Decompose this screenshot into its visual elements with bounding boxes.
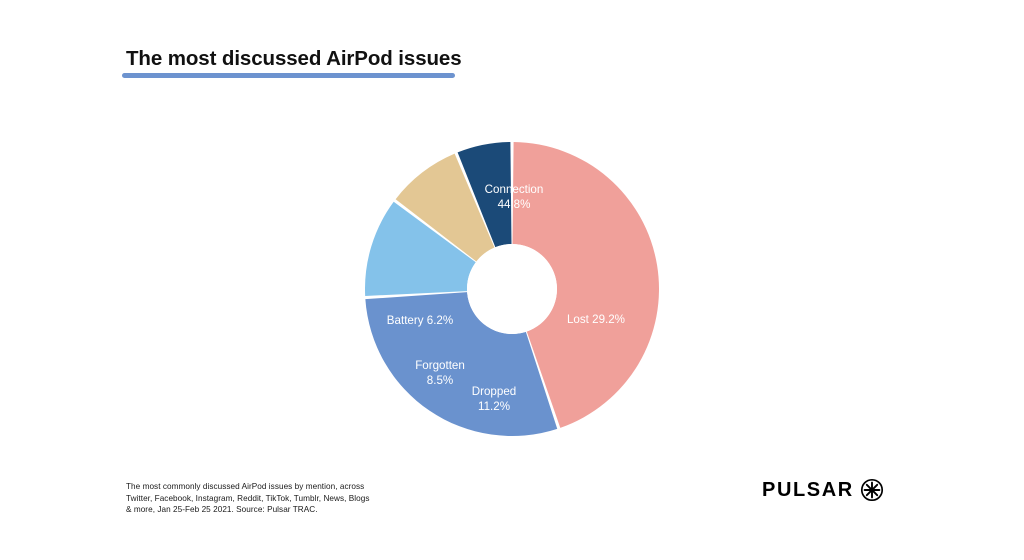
footer-line-3: & more, Jan 25-Feb 25 2021. Source: Puls… [126, 504, 426, 516]
pulsar-logo: PULSAR [762, 478, 884, 502]
pulsar-starburst-icon [860, 478, 884, 502]
pulsar-wordmark: PULSAR [762, 479, 854, 502]
title-underline-rule [122, 73, 455, 78]
slice-label-connection: Connection [485, 183, 544, 196]
title-block: The most discussed AirPod issues [126, 46, 546, 78]
page-title: The most discussed AirPod issues [126, 46, 546, 72]
donut-center-hole [467, 244, 557, 334]
slice-label-forgotten: 8.5% [427, 374, 453, 387]
slide-canvas: The most discussed AirPod issues Connect… [0, 0, 1024, 560]
slice-label-lost: Lost 29.2% [567, 313, 625, 326]
slice-label-dropped: Dropped [472, 385, 516, 398]
donut-chart: Connection44.8%Lost 29.2%Dropped11.2%For… [365, 142, 659, 436]
slice-label-battery: Battery 6.2% [387, 314, 453, 327]
slice-label-forgotten: Forgotten [415, 359, 465, 372]
footer-line-2: Twitter, Facebook, Instagram, Reddit, Ti… [126, 493, 426, 505]
slice-label-dropped: 11.2% [478, 400, 510, 413]
donut-chart-svg: Connection44.8%Lost 29.2%Dropped11.2%For… [365, 142, 659, 436]
slice-label-connection: 44.8% [498, 198, 531, 211]
footer-line-1: The most commonly discussed AirPod issue… [126, 481, 426, 493]
footer-source-note: The most commonly discussed AirPod issue… [126, 481, 426, 516]
